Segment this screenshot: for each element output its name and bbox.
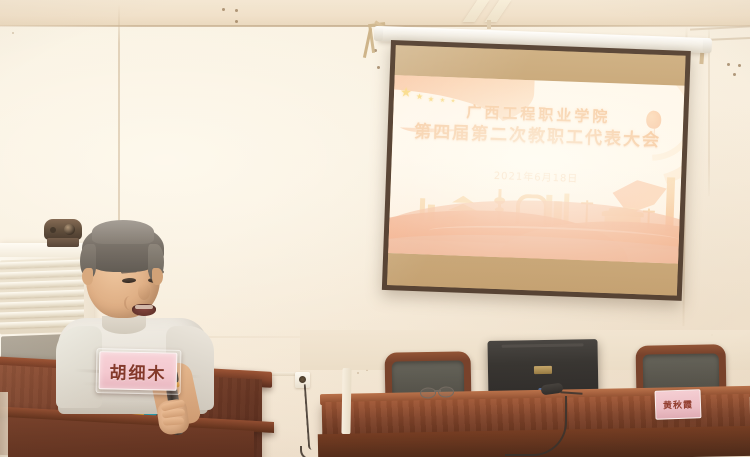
dais-nameplate: 黄秋霞 — [655, 389, 702, 420]
door-edge — [0, 392, 8, 457]
wall-screw — [733, 73, 736, 76]
nose — [138, 284, 150, 300]
shirt-collar — [102, 316, 146, 334]
conference-hall-photo: ★ ★ ★ ★ ★ 广西工程职业学院 第四届第二次教职工代表大会 2021年6月… — [0, 0, 750, 457]
hair-top — [92, 220, 154, 244]
housing-end-cap — [703, 38, 713, 53]
ear-right — [152, 268, 163, 285]
wall-screw — [727, 63, 730, 66]
socket-jack — [299, 376, 306, 383]
wall-screw — [377, 66, 380, 69]
finger — [163, 417, 184, 425]
monitor-logo — [534, 366, 552, 374]
ceiling-mount-stub — [487, 20, 491, 29]
monitor-vent-slot — [502, 343, 584, 347]
wall-screw — [738, 64, 741, 67]
star-icon: ★ — [400, 85, 412, 98]
ear-left — [82, 268, 93, 285]
wall-screw — [235, 20, 238, 23]
podium-nameplate: 胡细木 — [99, 351, 178, 391]
wall-screw — [235, 9, 238, 12]
dais-nameplate-text: 黄秋霞 — [663, 397, 693, 411]
camera-lens-secondary — [50, 227, 56, 233]
socket-cable — [300, 446, 316, 457]
projected-slide: ★ ★ ★ ★ ★ 广西工程职业学院 第四届第二次教职工代表大会 2021年6月… — [388, 75, 684, 264]
podium-nameplate-text: 胡细木 — [109, 358, 167, 384]
mouth — [132, 304, 156, 316]
projection-screen: ★ ★ ★ ★ ★ 广西工程职业学院 第四届第二次教职工代表大会 2021年6月… — [382, 40, 691, 301]
housing-end-cap — [374, 26, 384, 41]
slide-title-block: 广西工程职业学院 第四届第二次教职工代表大会 — [392, 99, 683, 154]
eyeglasses — [420, 386, 454, 397]
wall-mark — [12, 32, 14, 34]
monitor-signal-cable — [559, 391, 582, 408]
eye-left — [122, 278, 136, 284]
projection-screen-surface: ★ ★ ★ ★ ★ 广西工程职业学院 第四届第二次教职工代表大会 2021年6月… — [387, 45, 686, 295]
eyeglasses-bridge — [434, 390, 441, 392]
teeth — [135, 305, 153, 309]
wall-screw — [222, 8, 225, 11]
wall-mark — [357, 372, 359, 374]
wall-trim-strip — [341, 368, 351, 434]
